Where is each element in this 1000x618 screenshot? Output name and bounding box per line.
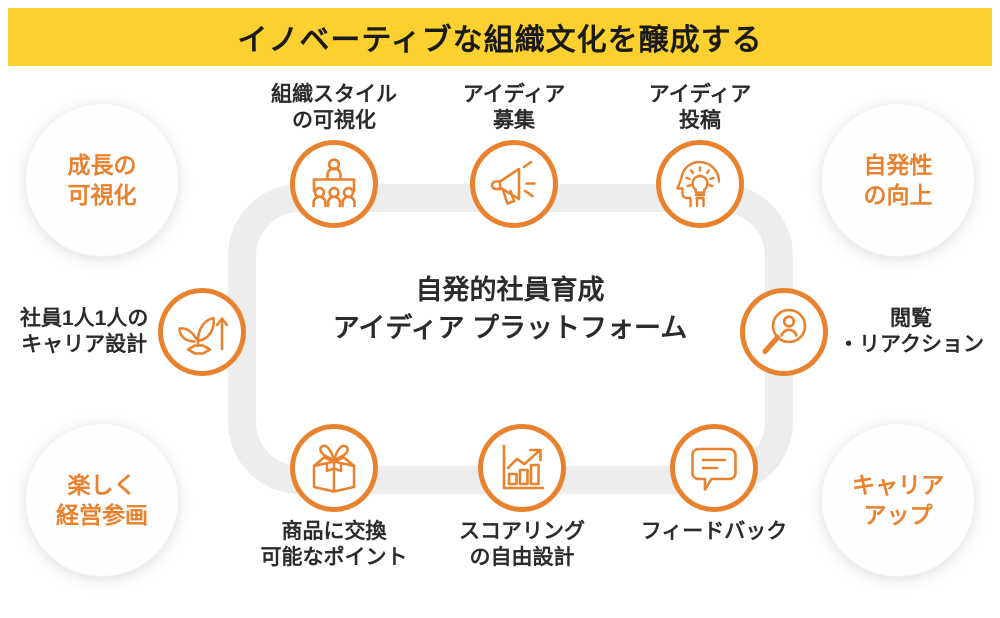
feature-line-1: 閲覧 <box>890 307 932 330</box>
feature-node-scoring: スコアリング の自由設計 <box>442 424 602 570</box>
feature-line-2: 可能なポイント <box>261 546 408 569</box>
outcome-line-1: キャリア <box>852 470 944 500</box>
feature-line-2: の自由設計 <box>470 546 575 569</box>
feature-label: アイディア 投稿 <box>649 82 751 133</box>
diagram-stage: 自発的社員育成 アイディア プラットフォーム 成長の 可視化 自発性 の向上 楽… <box>0 66 1000 618</box>
megaphone-icon <box>486 158 542 210</box>
feature-line-1: 組織スタイル <box>271 83 397 106</box>
feature-node-feedback: フィードバック <box>624 424 804 545</box>
feature-icon-wrap <box>290 140 378 228</box>
center-line-1: 自発的社員育成 <box>300 271 720 309</box>
center-line-2: アイディア プラットフォーム <box>300 309 720 347</box>
feature-icon-wrap <box>740 288 828 376</box>
feature-icon-wrap <box>470 140 558 228</box>
feature-node-exchange-points: 商品に交換 可能なポイント <box>242 424 426 570</box>
feature-line-2: 募集 <box>493 109 535 132</box>
feature-line-2: キャリア設計 <box>21 333 147 356</box>
outcome-line-1: 自発性 <box>864 150 933 180</box>
feature-line-1: スコアリング <box>459 520 585 543</box>
feature-label: アイディア 募集 <box>463 82 565 133</box>
feature-line-1: 社員1人1人の <box>20 307 148 330</box>
feature-label: 組織スタイル の可視化 <box>271 82 397 133</box>
feature-icon-wrap <box>656 140 744 228</box>
feature-icon-wrap <box>670 424 758 512</box>
feature-node-view-reaction: 閲覧 ・リアクション <box>740 288 994 376</box>
feature-line-2: 投稿 <box>679 109 721 132</box>
feature-label: 社員1人1人の キャリア設計 <box>20 306 148 357</box>
feature-node-idea-recruit: アイディア 募集 <box>446 82 582 228</box>
feature-line-1: フィードバック <box>641 520 788 543</box>
page-title: イノベーティブな組織文化を醸成する <box>237 15 762 59</box>
center-platform-label: 自発的社員育成 アイディア プラットフォーム <box>300 271 720 348</box>
outcome-line-2: 経営参画 <box>56 500 148 530</box>
feature-icon-wrap <box>158 288 246 376</box>
feature-label: スコアリング の自由設計 <box>459 519 585 570</box>
head-lightbulb-icon <box>673 158 727 210</box>
feature-node-idea-post: アイディア 投稿 <box>632 82 768 228</box>
feature-icon-wrap <box>478 424 566 512</box>
sprout-arrow-icon <box>174 307 230 357</box>
outcome-circle-bottom-left: 楽しく 経営参画 <box>26 424 178 576</box>
outcome-line-2: アップ <box>864 500 933 530</box>
feature-line-1: 商品に交換 <box>282 520 387 543</box>
feature-label: 閲覧 ・リアクション <box>838 306 984 357</box>
speech-bubble-icon <box>687 444 741 492</box>
feature-icon-wrap <box>290 424 378 512</box>
feature-line-1: アイディア <box>463 83 565 106</box>
magnifier-person-icon <box>758 306 810 358</box>
gift-box-icon <box>307 442 361 494</box>
feature-node-career-design: 社員1人1人の キャリア設計 <box>10 288 246 376</box>
feature-label: フィードバック <box>641 519 788 545</box>
feature-node-org-style: 組織スタイル の可視化 <box>246 82 422 228</box>
bar-chart-arrow-icon <box>496 443 548 493</box>
people-presentation-icon <box>306 158 362 210</box>
feature-line-1: アイディア <box>649 83 751 106</box>
outcome-line-1: 成長の <box>68 150 137 180</box>
outcome-line-1: 楽しく <box>68 470 137 500</box>
outcome-line-2: 可視化 <box>68 180 137 210</box>
outcome-line-2: の向上 <box>864 180 933 210</box>
feature-line-2: ・リアクション <box>838 333 984 356</box>
feature-label: 商品に交換 可能なポイント <box>261 519 408 570</box>
feature-line-2: の可視化 <box>292 109 376 132</box>
outcome-circle-top-right: 自発性 の向上 <box>822 104 974 256</box>
outcome-circle-top-left: 成長の 可視化 <box>26 104 178 256</box>
title-banner: イノベーティブな組織文化を醸成する <box>8 8 992 66</box>
outcome-circle-bottom-right: キャリア アップ <box>822 424 974 576</box>
